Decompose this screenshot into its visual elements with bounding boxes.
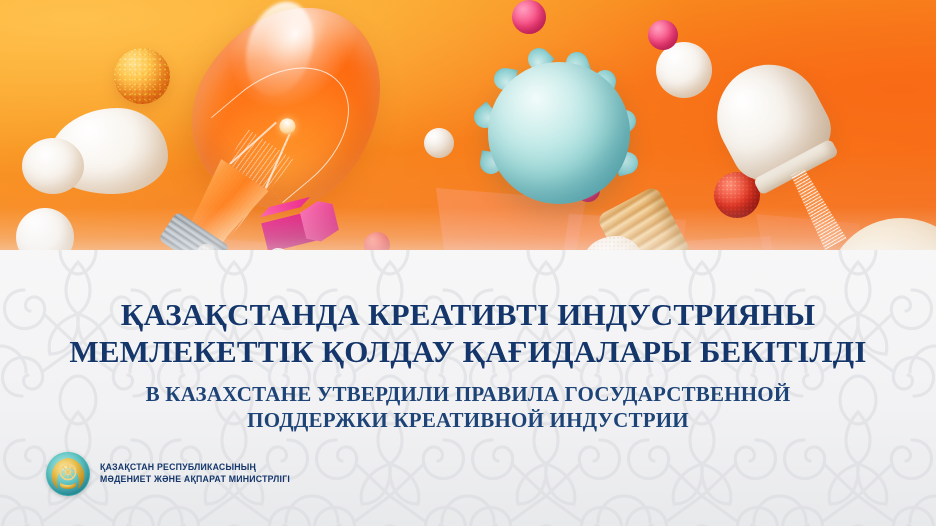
orange-textured-sphere — [114, 48, 170, 104]
white-sphere-small — [656, 42, 712, 98]
subheadline-russian-line1: В КАЗАХСТАНЕ УТВЕРДИЛИ ПРАВИЛА ГОСУДАРСТ… — [0, 381, 936, 407]
pink-spheres — [512, 0, 546, 34]
white-matte-bulb — [683, 38, 877, 236]
ministry-name-line2: МӘДЕНИЕТ ЖӘНЕ АҚПАРАТ МИНИСТРЛІГІ — [100, 474, 290, 486]
headline-kazakh-line2: МЕМЛЕКЕТТІК ҚОЛДАУ ҚАҒИДАЛАРЫ БЕКІТІЛДІ — [0, 333, 936, 370]
headline-kazakh-line1: ҚАЗАҚСТАНДА КРЕАТИВТІ ИНДУСТРИЯНЫ — [0, 296, 936, 333]
ministry-logo: ҚАЗАҚСТАН РЕСПУБЛИКАСЫНЫҢ МӘДЕНИЕТ ЖӘНЕ … — [46, 452, 307, 496]
headline-text-block: ҚАЗАҚСТАНДА КРЕАТИВТІ ИНДУСТРИЯНЫ МЕМЛЕК… — [0, 296, 936, 433]
subheadline-russian-line2: ПОДДЕРЖКИ КРЕАТИВНОЙ ИНДУСТРИИ — [0, 407, 936, 433]
news-banner: ҚАЗАҚСТАНДА КРЕАТИВТІ ИНДУСТРИЯНЫ МЕМЛЕК… — [0, 0, 936, 526]
ministry-logo-text: ҚАЗАҚСТАН РЕСПУБЛИКАСЫНЫҢ МӘДЕНИЕТ ЖӘНЕ … — [100, 462, 307, 485]
pink-spheres — [648, 20, 678, 50]
kazakhstan-coat-of-arms-icon — [46, 452, 90, 496]
ministry-name-line1: ҚАЗАҚСТАН РЕСПУБЛИКАСЫНЫҢ — [100, 462, 290, 474]
